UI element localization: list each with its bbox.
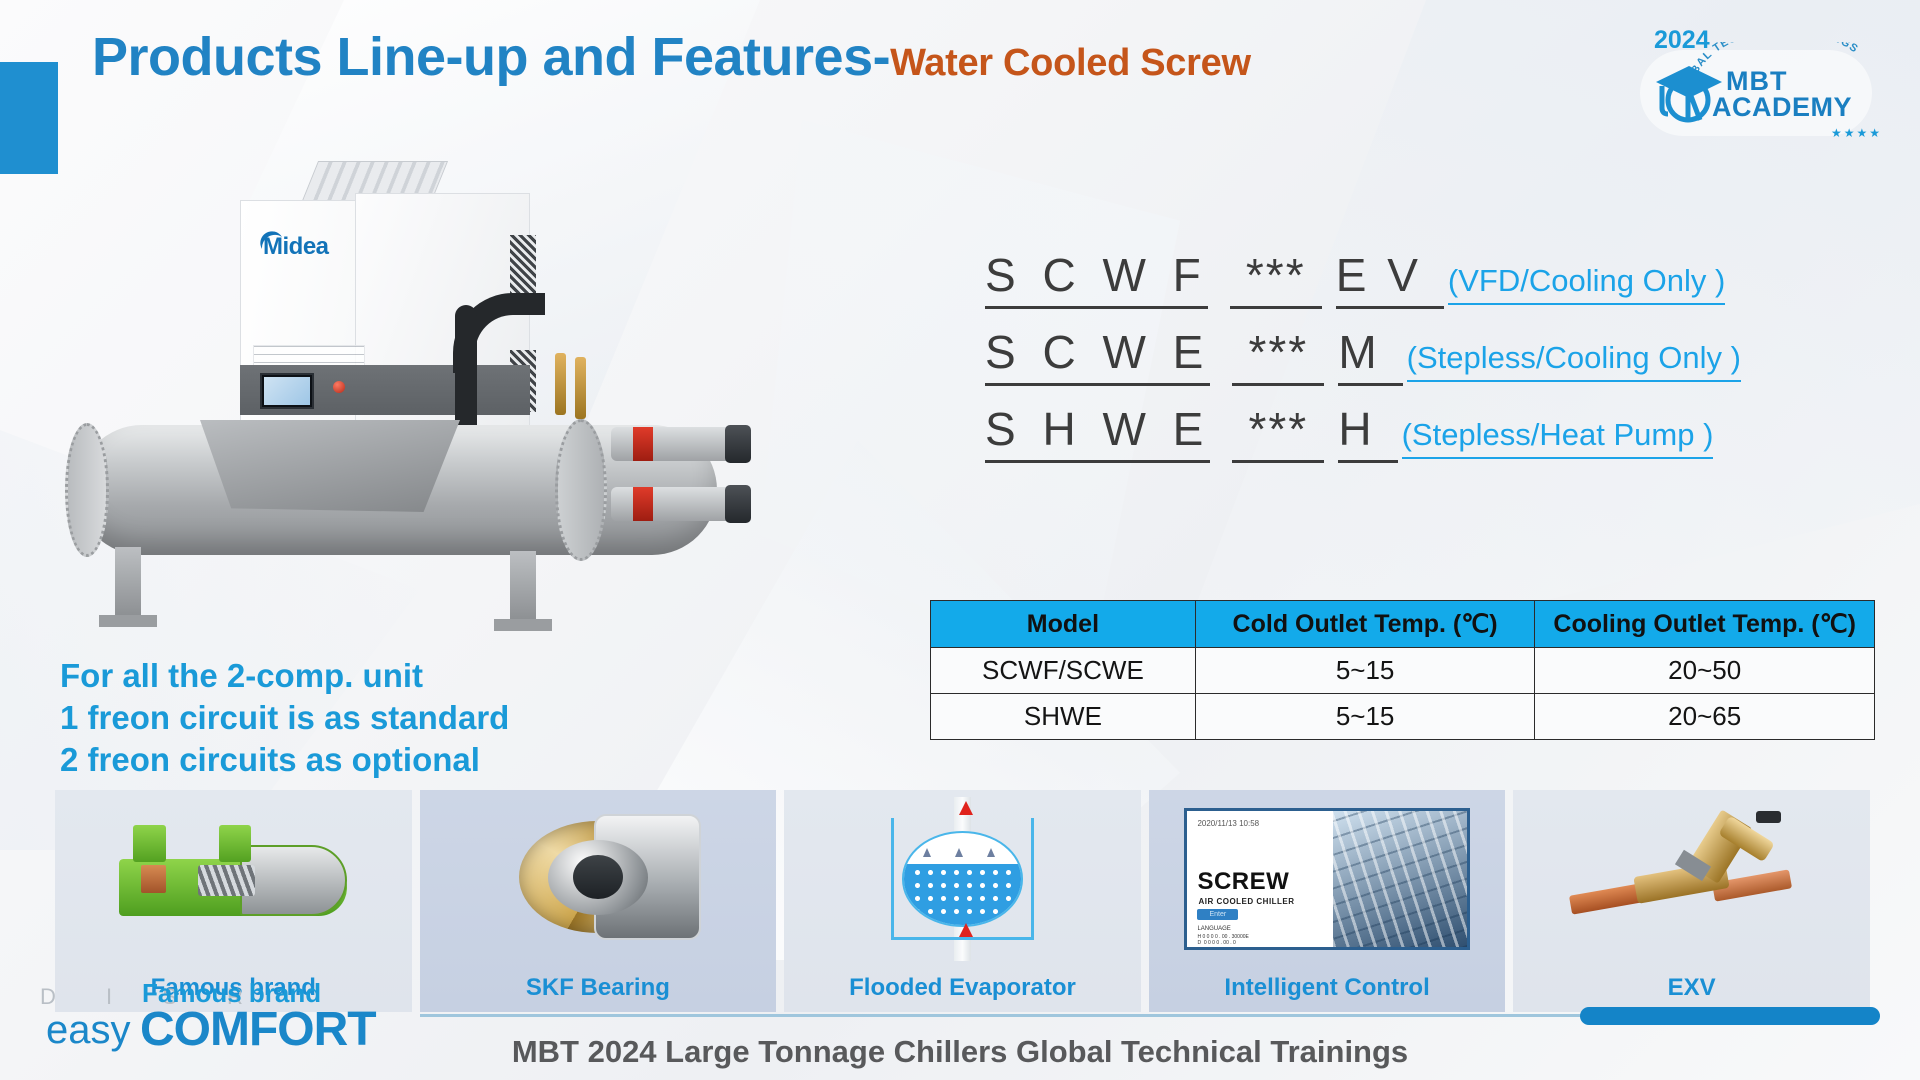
- table-cell-cooling-outlet: 20~65: [1535, 694, 1875, 740]
- mbt-academy-logo: 2024 GLOBAL TECHNICAL TRAININGS MBT ACAD…: [1630, 24, 1898, 144]
- circuit-note-line: For all the 2-comp. unit: [60, 655, 509, 697]
- model-code-prefix: S C W E: [985, 325, 1210, 386]
- controller-readouts: H 0 0 0 0 . 00 . 30000E D 0 0 0 0 . 00 .…: [1197, 934, 1248, 951]
- model-code-row: S C W E *** M (Stepless/Cooling Only ): [985, 325, 1895, 386]
- model-code-capacity: ***: [1232, 325, 1324, 386]
- model-code-note: (Stepless/Heat Pump ): [1402, 417, 1714, 459]
- support-leg: [510, 551, 536, 623]
- compressor-screw-rotor: [198, 865, 255, 896]
- hmi-display-screen: [264, 377, 310, 405]
- controller-building-photo: [1333, 811, 1467, 948]
- table-row: SHWE 5~15 20~65: [931, 694, 1875, 740]
- shell-end-cap: [65, 423, 109, 557]
- model-code-capacity: ***: [1232, 402, 1324, 463]
- circuit-note: For all the 2-comp. unit 1 freon circuit…: [60, 655, 509, 782]
- compressor-motor: [240, 845, 347, 916]
- screw-compressor-illustration: [55, 794, 412, 964]
- table-cell-cold-outlet: 5~15: [1195, 648, 1535, 694]
- table-cell-cold-outlet: 5~15: [1195, 694, 1535, 740]
- table-header-cold-outlet: Cold Outlet Temp. (℃): [1195, 601, 1535, 648]
- emergency-stop-button: [333, 381, 345, 393]
- table-cell-model: SHWE: [931, 694, 1196, 740]
- page-title: Products Line-up and Features-Water Cool…: [92, 26, 1251, 88]
- table-row: SCWF/SCWE 5~15 20~50: [931, 648, 1875, 694]
- compressor-head: [133, 825, 165, 862]
- table-cell-model: SCWF/SCWE: [931, 648, 1196, 694]
- vapor-arrow-icon: [987, 848, 995, 857]
- flow-arrow-up-icon: [959, 801, 973, 815]
- circuit-note-line: 1 freon circuit is as standard: [60, 697, 509, 739]
- brass-valve: [555, 353, 566, 415]
- footer-title: MBT 2024 Large Tonnage Chillers Global T…: [0, 1034, 1920, 1070]
- feature-card-flooded-evaporator: Flooded Evaporator: [784, 790, 1141, 1012]
- model-code-note: (Stepless/Cooling Only ): [1407, 340, 1741, 382]
- nozzle-red-band: [633, 427, 653, 461]
- nozzle-cap: [725, 425, 751, 463]
- page-title-main: Products Line-up and Features-: [92, 27, 890, 87]
- controller-screen-left: 2020/11/13 10:58 SCREW AIR COOLED CHILLE…: [1187, 811, 1332, 948]
- controller-title: SCREW: [1197, 868, 1289, 896]
- table-header-row: Model Cold Outlet Temp. (℃) Cooling Outl…: [931, 601, 1875, 648]
- table-header-model: Model: [931, 601, 1196, 648]
- model-code-row: S H W E *** H (Stepless/Heat Pump ): [985, 402, 1895, 463]
- support-leg: [115, 547, 141, 619]
- controller-frame: 2020/11/13 10:58 SCREW AIR COOLED CHILLE…: [1184, 808, 1469, 951]
- outlet-temperature-table: Model Cold Outlet Temp. (℃) Cooling Outl…: [930, 600, 1875, 740]
- compressor-bearing: [141, 865, 166, 892]
- table-header-cooling-outlet: Cooling Outlet Temp. (℃): [1535, 601, 1875, 648]
- support-foot: [494, 619, 552, 631]
- nozzle-cap: [725, 485, 751, 523]
- vapor-arrow-icon: [923, 848, 931, 857]
- model-code-row: S C W F *** E V (VFD/Cooling Only ): [985, 248, 1895, 309]
- model-code-note: (VFD/Cooling Only ): [1448, 263, 1725, 305]
- controller-timestamp: 2020/11/13 10:58: [1197, 819, 1322, 828]
- title-accent-bar: [0, 62, 58, 174]
- circuit-note-line: 2 freon circuits as optional: [60, 739, 509, 781]
- controller-language-label: LANGUAGE: [1197, 926, 1230, 932]
- cabinet-vent: [510, 235, 536, 295]
- feature-caption: EXV: [1513, 974, 1870, 1002]
- shell-end-cap: [555, 419, 607, 561]
- model-code-suffix: E V: [1336, 248, 1444, 309]
- water-nozzle: [611, 427, 751, 461]
- evaporator-vessel: [902, 831, 1023, 926]
- bearing-illustration: [420, 794, 777, 964]
- water-nozzle: [611, 487, 751, 521]
- controller-enter-button[interactable]: Enter: [1197, 909, 1238, 920]
- logo-stars-icon: ★★★★: [1831, 126, 1882, 140]
- feature-caption: Intelligent Control: [1149, 974, 1506, 1002]
- logo-brand-academy: ACADEMY: [1712, 94, 1852, 121]
- controller-screen-image: 2020/11/13 10:58 SCREW AIR COOLED CHILLE…: [1149, 794, 1506, 964]
- exv-valve-image: [1513, 794, 1870, 964]
- compressor-head: [219, 825, 251, 862]
- valve-connector-cap: [1756, 811, 1781, 823]
- logo-brand-mbt: MBT: [1726, 68, 1787, 95]
- support-foot: [99, 615, 157, 627]
- model-code-prefix: S C W F: [985, 248, 1208, 309]
- midea-brand-label: Midea: [263, 233, 329, 261]
- brass-valve: [575, 357, 586, 419]
- controller-subtitle: AIR COOLED CHILLER: [1198, 897, 1294, 906]
- footer-progress-bar: [1580, 1007, 1880, 1025]
- flow-arrow-up-icon: [959, 923, 973, 937]
- page-title-sub: Water Cooled Screw: [890, 42, 1251, 84]
- feature-caption: SKF Bearing: [420, 974, 777, 1002]
- model-code-capacity: ***: [1230, 248, 1322, 309]
- feature-caption: Flooded Evaporator: [784, 974, 1141, 1002]
- flooded-evaporator-diagram: [784, 794, 1141, 964]
- model-code-prefix: S H W E: [985, 402, 1210, 463]
- feature-card-skf-bearing: SKF Bearing: [420, 790, 777, 1012]
- nozzle-red-band: [633, 487, 653, 521]
- chiller-product-image: Midea: [55, 175, 885, 695]
- compressor-shroud: [200, 420, 460, 512]
- watermark-famous-brand-overlay: Famous brand: [142, 978, 321, 1009]
- model-code-suffix: M: [1338, 325, 1402, 386]
- model-code-suffix: H: [1338, 402, 1397, 463]
- feature-card-exv: EXV: [1513, 790, 1870, 1012]
- slide-canvas: Products Line-up and Features-Water Cool…: [0, 0, 1920, 1080]
- bearing-bore: [573, 855, 623, 899]
- model-code-legend: S C W F *** E V (VFD/Cooling Only ) S C …: [985, 248, 1895, 479]
- tube-bundle-icon: [911, 866, 1014, 919]
- feature-card-intelligent-control: 2020/11/13 10:58 SCREW AIR COOLED CHILLE…: [1149, 790, 1506, 1012]
- vapor-arrow-icon: [955, 848, 963, 857]
- feature-strip: Famous brand SKF Bearing: [55, 790, 1870, 1012]
- table-cell-cooling-outlet: 20~50: [1535, 648, 1875, 694]
